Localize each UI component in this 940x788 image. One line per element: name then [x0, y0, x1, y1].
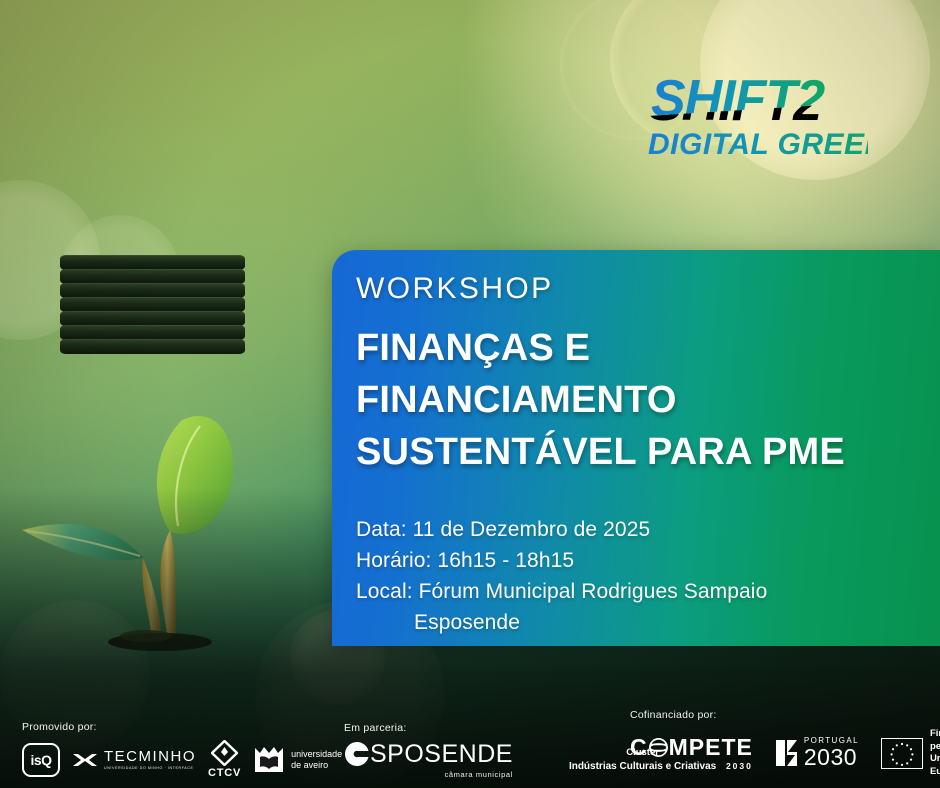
promoters-group: Promovido por: isQ TECMINHO UNIVERSIDADE…	[22, 721, 342, 779]
page-title-line-3: SUSTENTÁVEL PARA PME	[356, 426, 930, 478]
tecminho-logo: TECMINHO UNIVERSIDADE DO MINHO · INTERFA…	[72, 749, 196, 771]
tecminho-sub: UNIVERSIDADE DO MINHO · INTERFACE	[104, 767, 196, 771]
event-details: Data: 11 de Dezembro de 2025 Horário: 16…	[356, 514, 930, 638]
eu-flag-icon	[881, 738, 923, 769]
poster-canvas: SHIFT2 SHIFT2 DIGITAL GREEN WORKSHOP FIN…	[0, 0, 940, 788]
isq-logo: isQ	[22, 743, 60, 777]
aveiro-line-2: de aveiro	[291, 760, 342, 770]
aveiro-line-1: universidade	[291, 749, 342, 759]
eu-funding-logo: Financiado pela União Europeia	[881, 728, 940, 779]
esposende-e-icon	[344, 741, 370, 767]
funders-group: Cofinanciado por: C MPETE 2030	[630, 709, 940, 779]
event-venue: Local: Fórum Municipal Rodrigues Sampaio	[356, 576, 930, 607]
ctcv-diamond-icon	[211, 740, 238, 766]
funders-label: Cofinanciado por:	[630, 709, 940, 721]
tecminho-name: TECMINHO	[104, 749, 196, 764]
page-title-line-2: FINANCIAMENTO	[356, 374, 930, 426]
compete-word: MPETE	[669, 736, 753, 759]
event-city: Esposende	[356, 607, 930, 638]
compete-year: 2030	[726, 761, 753, 771]
event-time: Horário: 16h15 - 18h15	[356, 545, 930, 576]
event-date: Data: 11 de Dezembro de 2025	[356, 514, 930, 545]
compete-letter-c: C	[630, 736, 648, 759]
footer-logos: Promovido por: isQ TECMINHO UNIVERSIDADE…	[0, 706, 940, 788]
svg-text:DIGITAL GREEN: DIGITAL GREEN	[648, 128, 868, 161]
eu-line-1: Financiado pela	[930, 728, 940, 754]
eyebrow-workshop: WORKSHOP	[356, 272, 930, 306]
page-title-line-1: FINANÇAS E	[356, 322, 930, 374]
isq-logo-text: isQ	[30, 753, 51, 767]
ctcv-logo: CTCV	[208, 740, 241, 779]
promoters-label: Promovido por:	[22, 721, 342, 733]
portugal-2030-logo: PORTUGAL 2030	[775, 737, 859, 769]
universidade-aveiro-logo: universidade de aveiro	[253, 745, 342, 774]
ctcv-name: CTCV	[208, 768, 241, 779]
globe-icon	[649, 738, 668, 757]
aveiro-book-icon	[253, 745, 285, 774]
esposende-sub: câmara municipal	[445, 770, 513, 779]
tecminho-mark-icon	[72, 750, 98, 770]
eu-line-2: União Europeia	[930, 753, 940, 779]
portugal-year: 2030	[804, 746, 859, 769]
event-info-panel: WORKSHOP FINANÇAS E FINANCIAMENTO SUSTEN…	[332, 250, 940, 646]
esposende-name: SPOSENDE	[370, 742, 513, 767]
portugal-mark-icon	[775, 738, 799, 768]
compete-2030-logo: C MPETE 2030	[630, 736, 753, 771]
esposende-logo: SPOSENDE câmara municipal	[344, 741, 513, 779]
shift2-digital-green-logo: SHIFT2 SHIFT2 DIGITAL GREEN	[648, 64, 868, 174]
